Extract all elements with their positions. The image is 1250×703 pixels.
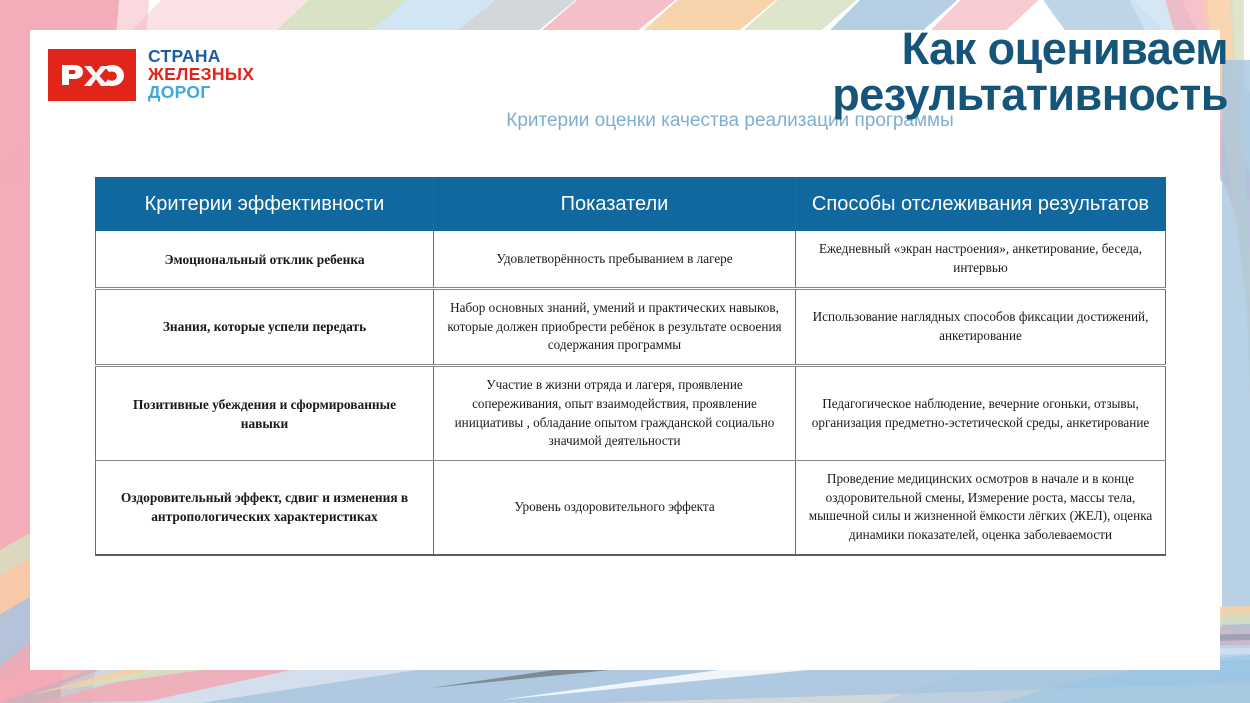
brand-wordmark: СТРАНА ЖЕЛЕЗНЫХ ДОРОГ [148, 48, 254, 102]
cell-tracking: Проведение медицинских осмотров в начале… [796, 461, 1166, 555]
slide-canvas: СТРАНА ЖЕЛЕЗНЫХ ДОРОГ Критерии оценки ка… [0, 0, 1250, 703]
brand-line-2: ЖЕЛЕЗНЫХ [148, 66, 254, 84]
cell-indicator: Удовлетворённость пребыванием в лагере [434, 231, 796, 288]
cell-criterion: Эмоциональный отклик ребенка [96, 231, 434, 288]
table-row: Оздоровительный эффект, сдвиг и изменени… [96, 461, 1166, 555]
cell-indicator: Уровень оздоровительного эффекта [434, 461, 796, 555]
cell-tracking: Использование наглядных способов фиксаци… [796, 288, 1166, 365]
table-header-row: Критерии эффективности Показатели Способ… [96, 178, 1166, 231]
criteria-table: Критерии эффективности Показатели Способ… [95, 177, 1166, 556]
cell-indicator: Участие в жизни отряда и лагеря, проявле… [434, 366, 796, 461]
cell-criterion: Позитивные убеждения и сформированные на… [96, 366, 434, 461]
cell-indicator: Набор основных знаний, умений и практиче… [434, 288, 796, 365]
table-row: Знания, которые успели передать Набор ос… [96, 288, 1166, 365]
cell-criterion: Знания, которые успели передать [96, 288, 434, 365]
slide-title: Как оцениваем результативность [538, 26, 1228, 118]
column-header-indicators: Показатели [434, 178, 796, 231]
brand-line-3: ДОРОГ [148, 84, 254, 102]
cell-tracking: Педагогическое наблюдение, вечерние огон… [796, 366, 1166, 461]
column-header-criteria: Критерии эффективности [96, 178, 434, 231]
table-row: Позитивные убеждения и сформированные на… [96, 366, 1166, 461]
criteria-table-container: Критерии эффективности Показатели Способ… [95, 177, 1165, 556]
cell-tracking: Ежедневный «экран настроения», анкетиров… [796, 231, 1166, 288]
table-row: Эмоциональный отклик ребенка Удовлетворё… [96, 231, 1166, 288]
cell-criterion: Оздоровительный эффект, сдвиг и изменени… [96, 461, 434, 555]
brand-logo: СТРАНА ЖЕЛЕЗНЫХ ДОРОГ [48, 48, 254, 102]
rzd-logo-mark-icon [48, 49, 136, 101]
column-header-tracking: Способы отслеживания результатов [796, 178, 1166, 231]
